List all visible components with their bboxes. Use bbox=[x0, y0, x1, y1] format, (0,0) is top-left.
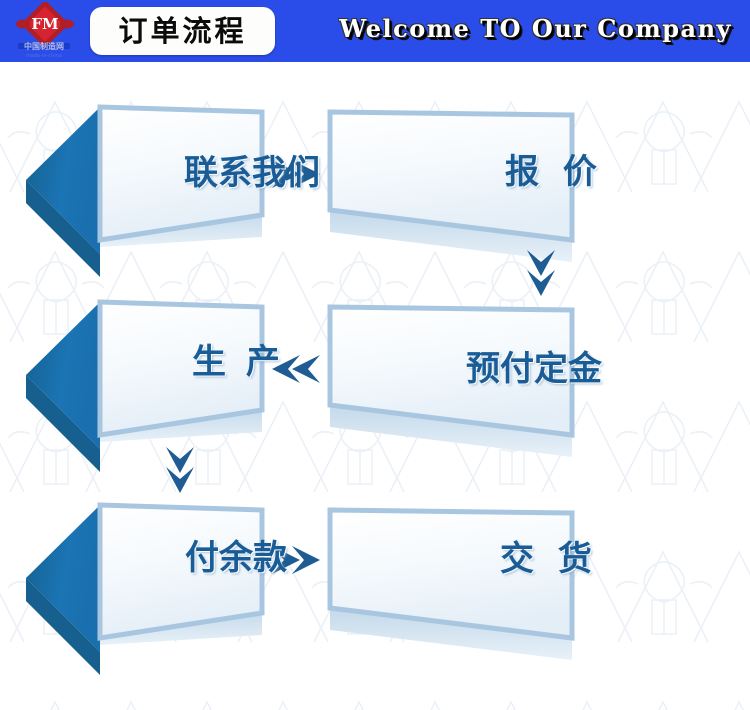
node-quote[interactable] bbox=[330, 112, 572, 262]
node-balance[interactable] bbox=[26, 505, 262, 675]
node-deposit[interactable] bbox=[330, 307, 572, 457]
svg-text:FM: FM bbox=[31, 15, 58, 33]
svg-text:made-in-china: made-in-china bbox=[26, 53, 62, 59]
node-contact-face bbox=[100, 107, 262, 240]
node-balance-face bbox=[100, 505, 262, 638]
arrow-balance-to-delivery bbox=[272, 546, 320, 574]
node-produce-face bbox=[100, 302, 262, 435]
arrow-deposit-to-produce bbox=[272, 355, 320, 383]
page-title-pill: 订单流程 bbox=[90, 7, 275, 55]
node-contact[interactable] bbox=[26, 107, 262, 277]
order-process-flowchart bbox=[0, 62, 750, 710]
node-delivery[interactable] bbox=[330, 510, 572, 660]
page-title: 订单流程 bbox=[118, 17, 246, 46]
fm-diamond-logo: FM 中国制造网 made-in-china bbox=[8, 2, 82, 60]
node-produce[interactable] bbox=[26, 302, 262, 472]
arrow-contact-to-quote bbox=[272, 160, 320, 188]
header-bar: FM 中国制造网 made-in-china 订单流程 Welcome TO O… bbox=[0, 0, 750, 62]
svg-text:中国制造网: 中国制造网 bbox=[24, 41, 64, 51]
welcome-text: Welcome TO Our Company bbox=[339, 14, 732, 43]
arrow-produce-to-balance bbox=[166, 447, 194, 493]
